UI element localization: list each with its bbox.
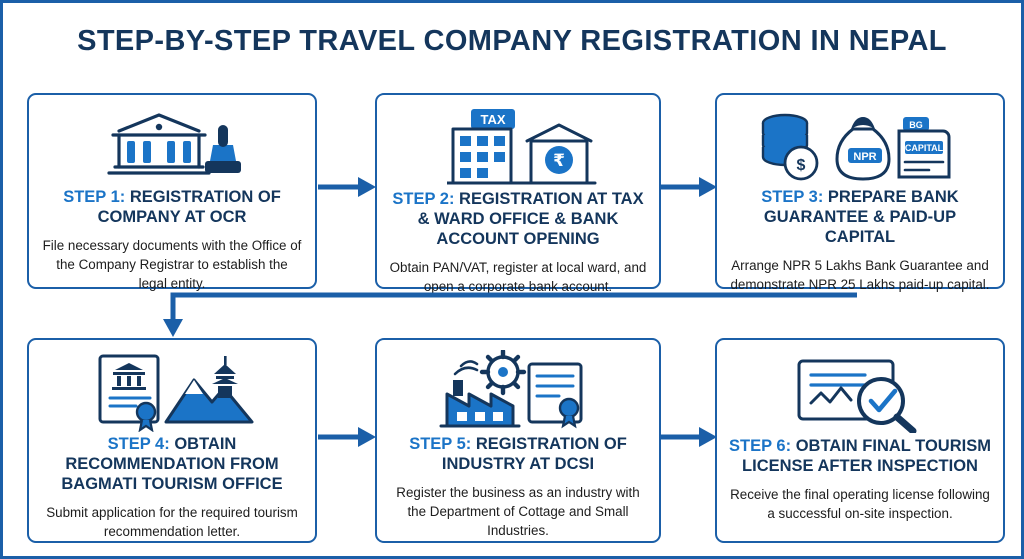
step-heading-4: Step 4: Obtain Recommendation from Bagma…: [41, 434, 303, 494]
step-card-1: Step 1: Registration of Company at OCR F…: [27, 93, 317, 289]
svg-text:₹: ₹: [553, 151, 565, 171]
arrow-step3-to-step4: [143, 289, 863, 341]
money-bag-label: NPR: [853, 151, 876, 163]
dollar-coin-label: $: [797, 157, 806, 174]
step-heading-2: Step 2: Registration at Tax & Ward Offic…: [389, 189, 647, 249]
tax-building-bank-icon: TAX: [433, 105, 603, 187]
step-description-6: Receive the final operating license foll…: [729, 485, 991, 523]
arrow-step2-to-step3: [659, 173, 719, 201]
step-card-5: Step 5: Registration of Industry at DCSI…: [375, 338, 661, 543]
step-description-5: Register the business as an industry wit…: [389, 483, 647, 540]
step-title-4: Obtain Recommendation from Bagmati Touri…: [61, 435, 282, 493]
arrow-step4-to-step5: [316, 423, 378, 451]
step-number-6: Step 6:: [729, 437, 791, 455]
arrow-step1-to-step2: [316, 173, 378, 201]
license-magnifier-check-icon: [785, 350, 935, 434]
bg-badge-label: BG: [909, 120, 923, 130]
step-number-4: Step 4:: [108, 435, 170, 453]
step-card-2: TAX: [375, 93, 661, 289]
step-number-2: Step 2:: [392, 190, 454, 208]
step-heading-1: Step 1: Registration of Company at OCR: [41, 187, 303, 227]
step-heading-3: Step 3: Prepare Bank Guarantee & Paid-up…: [729, 187, 991, 247]
step-card-6: Step 6: Obtain Final Tourism License aft…: [715, 338, 1005, 543]
step-title-1: Registration of Company at OCR: [98, 188, 281, 226]
step-heading-6: Step 6: Obtain Final Tourism License aft…: [729, 436, 991, 476]
capital-badge-label: CAPITAL: [905, 143, 944, 153]
step-description-4: Submit application for the required tour…: [41, 503, 303, 541]
step-card-3: $ NPR BG CAPITAL: [715, 93, 1005, 289]
step-number-1: Step 1:: [63, 188, 125, 206]
infographic-root: Step-by-Step Travel Company Registration…: [0, 0, 1024, 559]
step-number-5: Step 5:: [409, 435, 471, 453]
step-heading-5: Step 5: Registration of Industry at DCSI: [389, 434, 647, 474]
coins-moneybag-capital-icon: $ NPR BG CAPITAL: [755, 105, 965, 185]
page-title: Step-by-Step Travel Company Registration…: [3, 25, 1021, 58]
step-description-1: File necessary documents with the Office…: [41, 236, 303, 293]
bank-stamp-icon: [97, 105, 247, 185]
arrow-step5-to-step6: [659, 423, 719, 451]
tax-sign-label: TAX: [480, 112, 505, 127]
step-number-3: Step 3:: [761, 188, 823, 206]
step-card-4: Step 4: Obtain Recommendation from Bagma…: [27, 338, 317, 543]
certificate-mountain-temple-icon: [82, 350, 262, 432]
factory-gear-document-icon: [433, 350, 603, 432]
